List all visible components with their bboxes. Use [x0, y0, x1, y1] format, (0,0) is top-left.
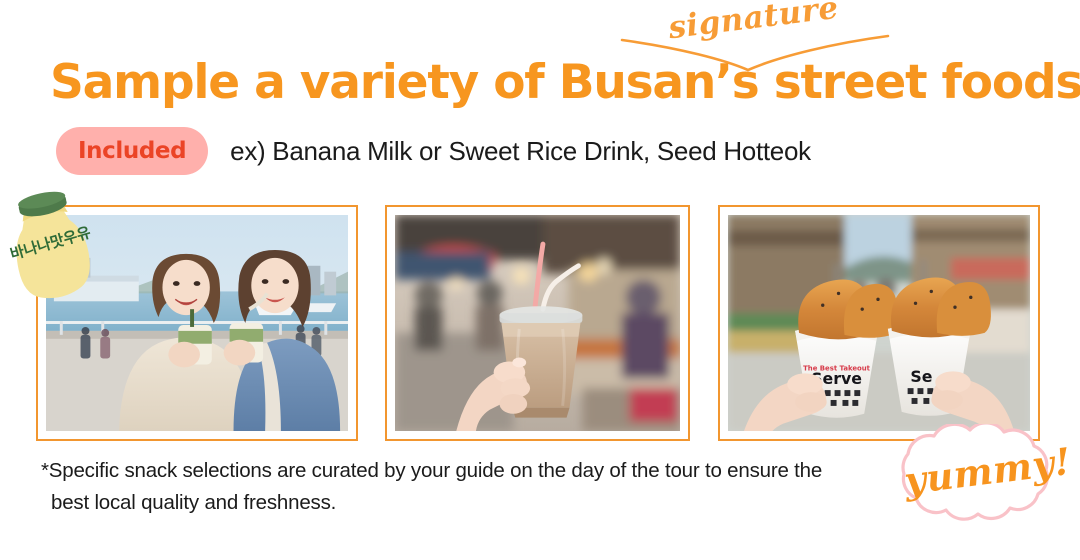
svg-text:Se: Se: [910, 367, 932, 386]
included-badge: Included: [56, 127, 208, 175]
photo-frame-3: The Best Takeout Serve Se: [718, 205, 1040, 441]
page-title: Sample a variety of Busan’s street foods: [50, 56, 1050, 110]
photo-frame-2: [385, 205, 690, 441]
photo-2: [395, 215, 680, 431]
footnote-line-2: best local quality and freshness.: [41, 487, 881, 519]
yummy-sticker: yummy!: [878, 424, 1078, 544]
footnote-line-1: *Specific snack selections are curated b…: [41, 455, 881, 487]
banana-milk-bottle-sticker: 바나나맛우유: [2, 186, 102, 302]
footnote: *Specific snack selections are curated b…: [41, 455, 881, 519]
included-example-text: ex) Banana Milk or Sweet Rice Drink, See…: [230, 136, 811, 167]
photo-3: The Best Takeout Serve Se: [728, 215, 1030, 431]
included-row: Included ex) Banana Milk or Sweet Rice D…: [56, 127, 811, 175]
promo-banner: signature Sample a variety of Busan’s st…: [0, 0, 1080, 560]
banana-milk-bottle-icon: 바나나맛우유: [2, 186, 102, 302]
